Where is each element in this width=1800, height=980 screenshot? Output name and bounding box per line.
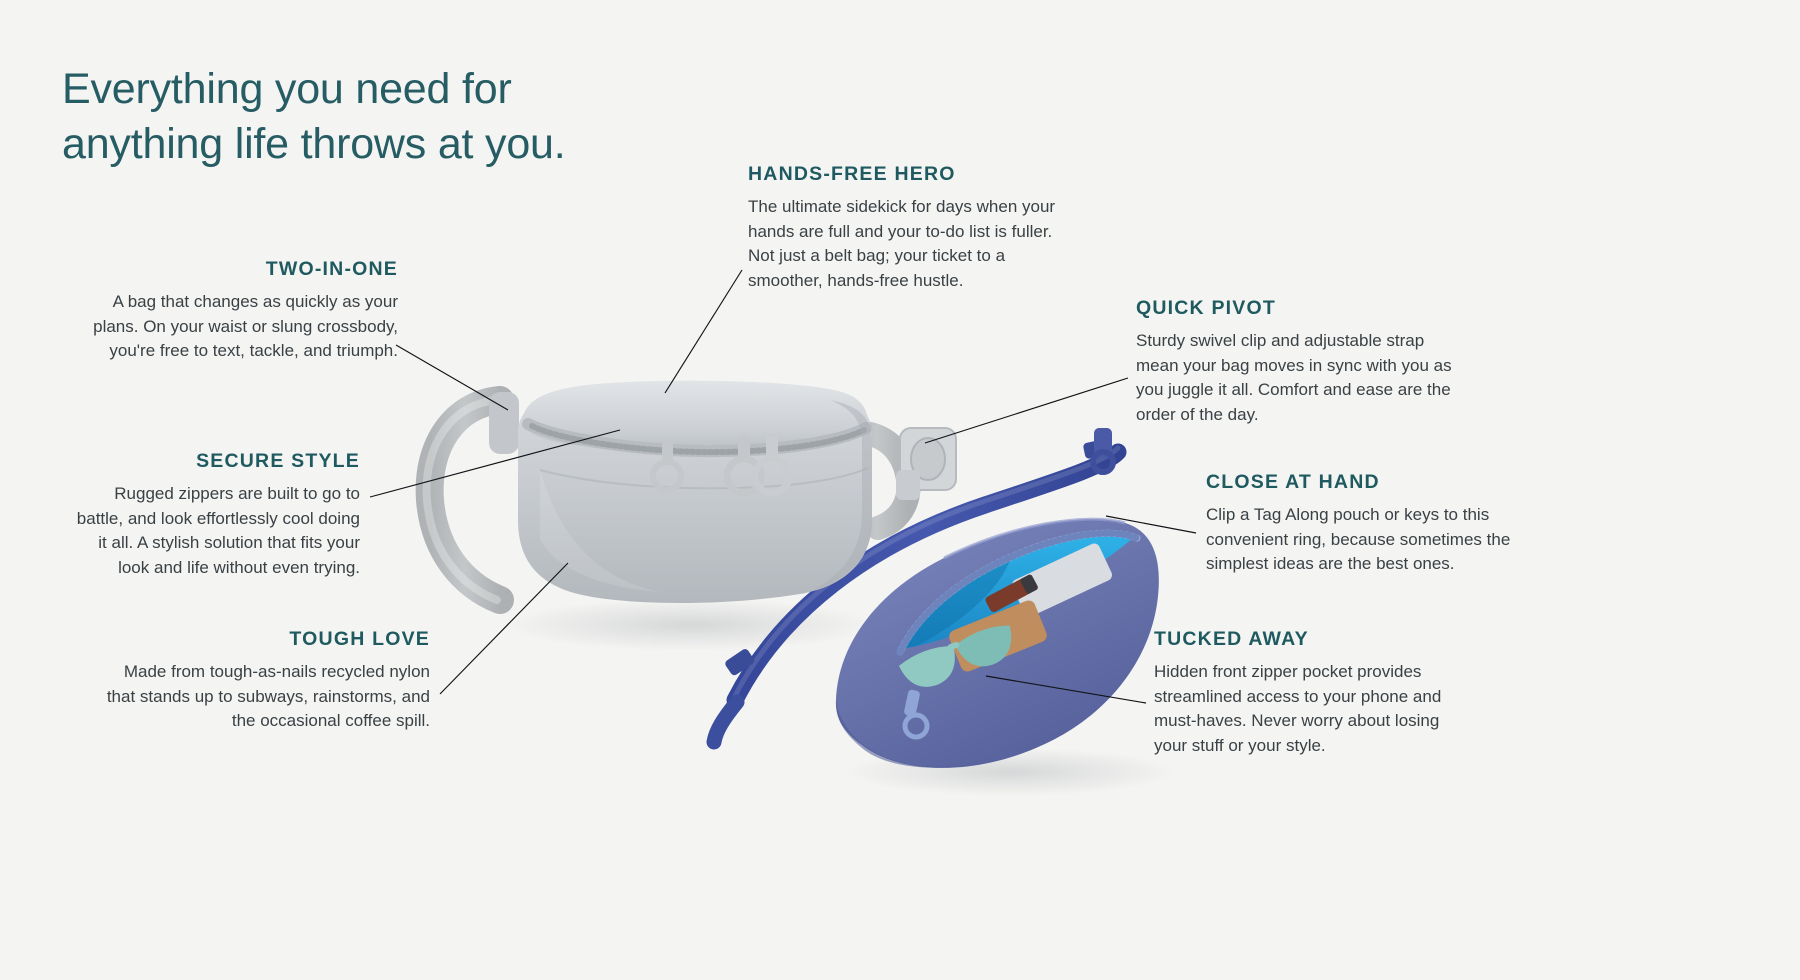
callout-tough-love: TOUGH LOVE Made from tough-as-nails recy… xyxy=(88,628,430,734)
sunglasses-in-pocket xyxy=(897,621,1020,695)
callout-title: CLOSE AT HAND xyxy=(1206,471,1538,494)
callout-hands-free-hero: HANDS-FREE HERO The ultimate sidekick fo… xyxy=(748,163,1078,294)
wire-quick-pivot xyxy=(925,378,1128,443)
callout-title: TWO-IN-ONE xyxy=(60,258,398,281)
callout-secure-style: SECURE STYLE Rugged zippers are built to… xyxy=(42,450,360,581)
front-zipper-pull xyxy=(653,440,681,490)
wire-tucked-away xyxy=(986,676,1146,703)
callout-body: Made from tough-as-nails recycled nylon … xyxy=(88,660,430,734)
callout-body: The ultimate sidekick for days when your… xyxy=(748,195,1078,294)
wire-hands-free-hero xyxy=(665,270,742,393)
wire-tough-love xyxy=(440,563,568,694)
infographic-canvas: Everything you need for anything life th… xyxy=(0,0,1800,980)
blue-swivel-clip xyxy=(1093,428,1113,472)
wire-close-at-hand xyxy=(1106,516,1196,533)
card-sleeve-in-pocket xyxy=(947,598,1049,673)
main-zipper-pulls xyxy=(727,436,789,493)
callout-quick-pivot: QUICK PIVOT Sturdy swivel clip and adjus… xyxy=(1136,297,1476,428)
strap-buckle xyxy=(896,428,956,500)
callout-body: A bag that changes as quickly as your pl… xyxy=(60,290,398,364)
callout-body: Clip a Tag Along pouch or keys to this c… xyxy=(1206,503,1538,577)
callout-body: Rugged zippers are built to go to battle… xyxy=(42,482,360,581)
page-headline: Everything you need for anything life th… xyxy=(62,62,822,172)
callout-title: HANDS-FREE HERO xyxy=(748,163,1078,186)
callout-close-at-hand: CLOSE AT HAND Clip a Tag Along pouch or … xyxy=(1206,471,1538,577)
blue-belt-bag xyxy=(714,428,1159,768)
callout-title: TUCKED AWAY xyxy=(1154,628,1486,651)
callout-title: TOUGH LOVE xyxy=(88,628,430,651)
wire-two-in-one xyxy=(396,345,508,410)
callout-title: QUICK PIVOT xyxy=(1136,297,1476,320)
lipstick-in-pocket xyxy=(984,574,1039,614)
blue-zipper-pull xyxy=(903,689,927,737)
gray-belt-bag xyxy=(427,381,956,603)
wire-secure-style xyxy=(370,430,620,497)
callout-body: Sturdy swivel clip and adjustable strap … xyxy=(1136,329,1476,428)
callout-two-in-one: TWO-IN-ONE A bag that changes as quickly… xyxy=(60,258,398,364)
callout-body: Hidden front zipper pocket provides stre… xyxy=(1154,660,1486,759)
callout-title: SECURE STYLE xyxy=(42,450,360,473)
phone-in-pocket xyxy=(1010,542,1114,619)
callout-tucked-away: TUCKED AWAY Hidden front zipper pocket p… xyxy=(1154,628,1486,759)
